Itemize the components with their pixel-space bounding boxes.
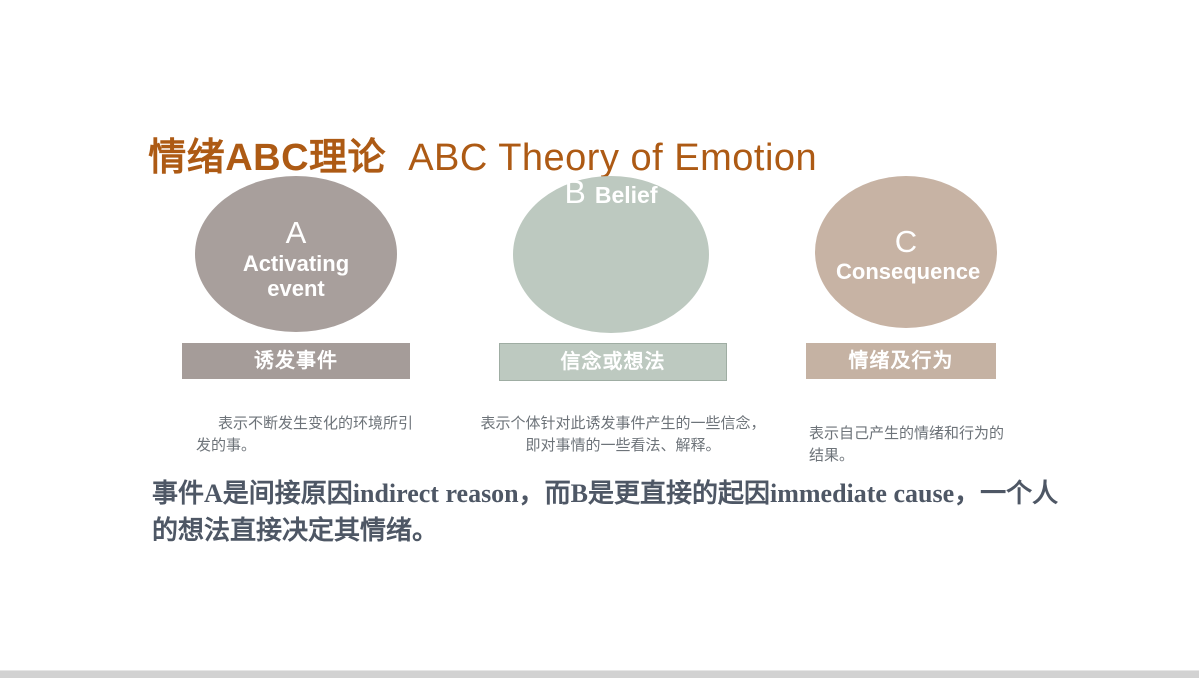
page-title-english: ABC Theory of Emotion	[408, 137, 817, 179]
ellipse-a: A Activating event	[195, 176, 397, 332]
concept-column-a: A Activating event 诱发事件 表示不断发生变化的环境所引发的事…	[182, 176, 410, 332]
label-bar-a: 诱发事件	[182, 343, 410, 379]
slide-canvas: 情绪ABC理论 ABC Theory of Emotion A Activati…	[0, 0, 1199, 678]
description-c: 表示自己产生的情绪和行为的结果。	[809, 423, 1009, 467]
concept-column-b: B Belief 信念或想法 表示个体针对此诱发事件产生的一些信念，即对事情的一…	[495, 176, 727, 333]
ellipse-a-letter: A	[286, 217, 307, 248]
ellipse-b-letter: B	[565, 176, 586, 208]
label-bar-c: 情绪及行为	[806, 343, 996, 379]
page-title-chinese: 情绪ABC理论	[148, 137, 386, 179]
ellipse-c-word: Consequence	[836, 260, 976, 285]
description-a: 表示不断发生变化的环境所引发的事。	[196, 413, 418, 457]
bottom-strip	[0, 670, 1199, 678]
page-title-separator	[386, 137, 408, 179]
ellipse-b: B Belief	[513, 176, 709, 333]
ellipse-a-word: Activating event	[221, 252, 371, 301]
concept-column-c: C Consequence 情绪及行为 表示自己产生的情绪和行为的结果。	[806, 176, 1006, 328]
ellipse-c-letter: C	[895, 226, 917, 257]
label-bar-b: 信念或想法	[499, 343, 727, 381]
summary-text: 事件A是间接原因indirect reason，而B是更直接的起因immedia…	[152, 476, 1072, 550]
description-b: 表示个体针对此诱发事件产生的一些信念，即对事情的一些看法、解释。	[478, 413, 768, 457]
ellipse-b-word: Belief	[595, 183, 658, 209]
ellipse-c: C Consequence	[815, 176, 997, 328]
